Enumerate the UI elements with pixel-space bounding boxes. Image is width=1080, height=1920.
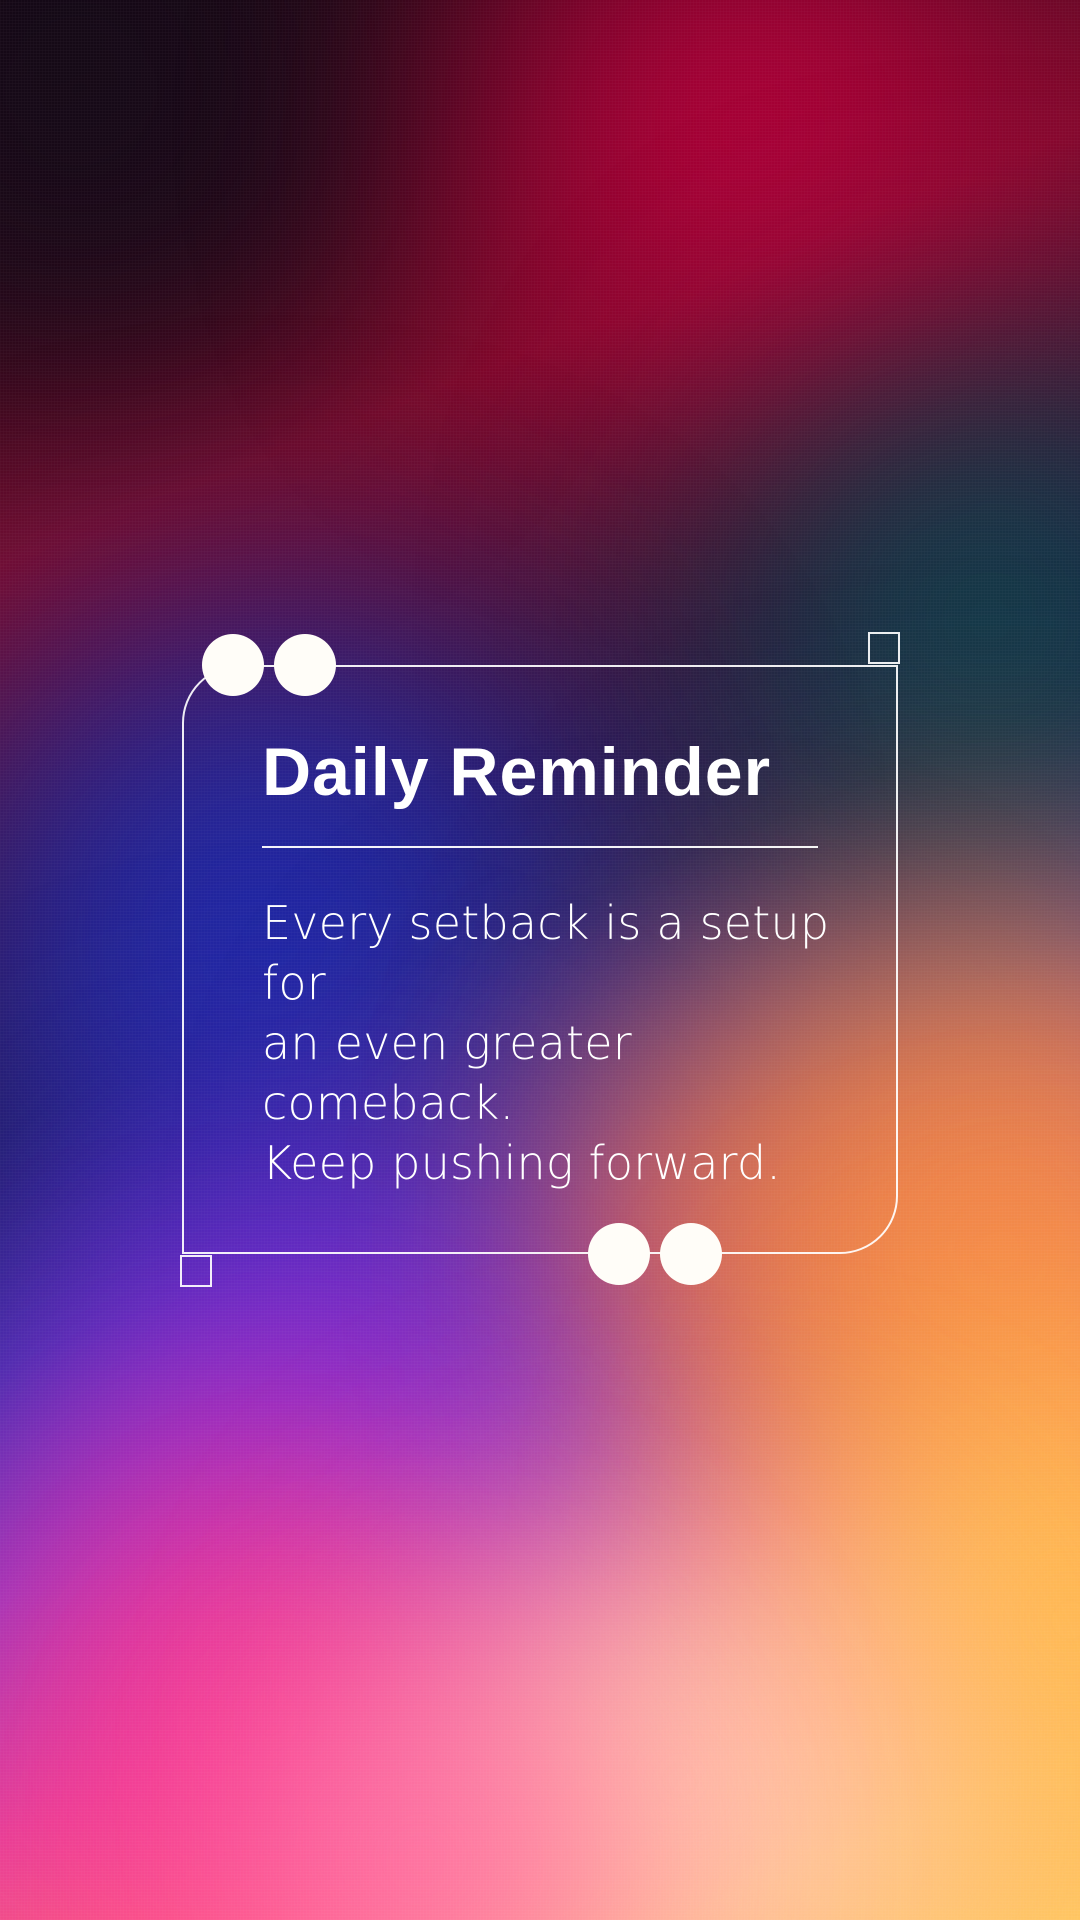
quote-card-content: Daily Reminder Every setback is a setup … [182, 665, 898, 1254]
poster-canvas: Daily Reminder Every setback is a setup … [0, 0, 1080, 1920]
corner-square-bottom-left-icon [180, 1255, 212, 1287]
quote-line-2: an even greater comeback. [262, 1014, 862, 1134]
quote-text: Every setback is a setup for an even gre… [262, 894, 862, 1193]
quote-line-3: Keep pushing forward. [262, 1134, 862, 1194]
corner-square-top-right-icon [868, 632, 900, 664]
card-title: Daily Reminder [262, 737, 898, 808]
quote-line-1: Every setback is a setup for [262, 894, 862, 1014]
title-divider [262, 846, 818, 848]
